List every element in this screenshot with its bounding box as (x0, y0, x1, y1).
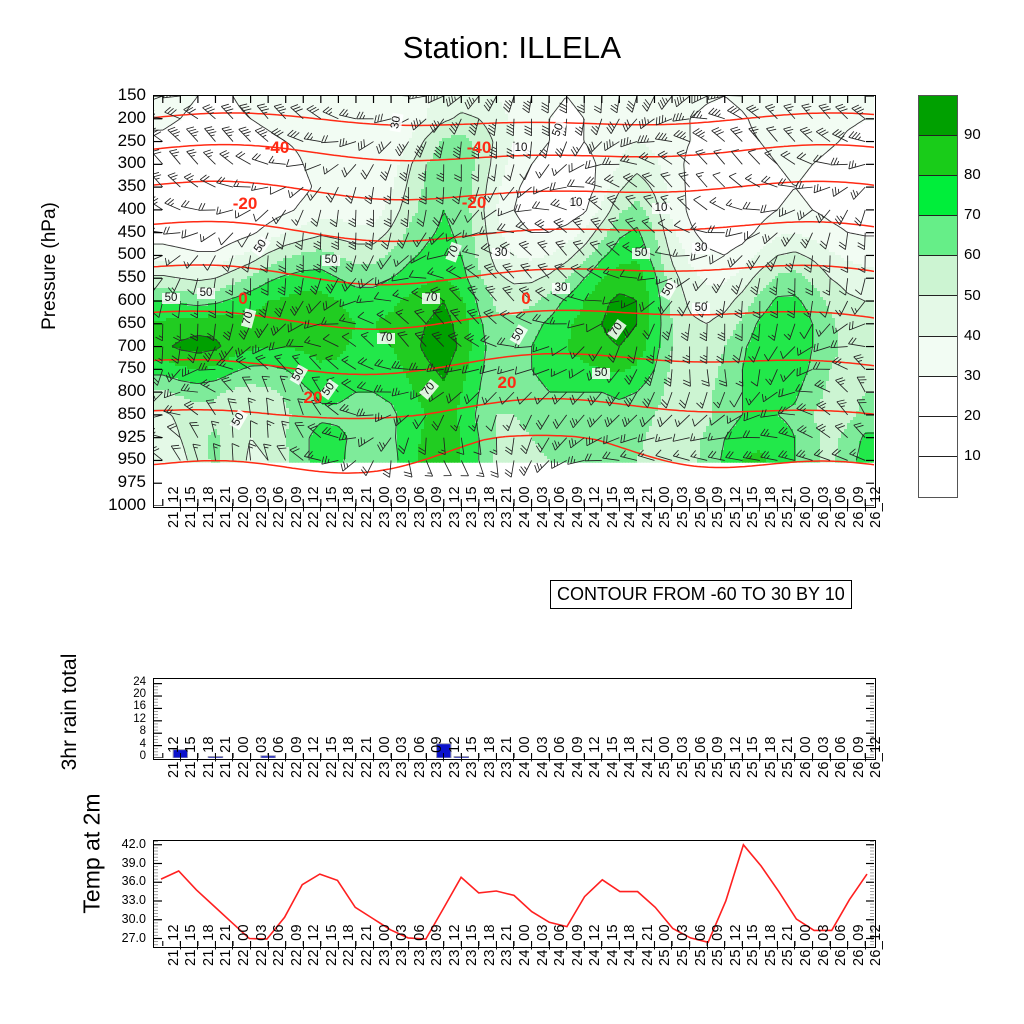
time-tick-label: 25_06 (694, 952, 708, 966)
time-tick-label: 25_03 (676, 514, 690, 528)
time-tick-label: 24_00 (518, 764, 532, 778)
time-tick-label: 25_15 (746, 952, 760, 966)
time-tick-label: 25_15 (746, 764, 760, 778)
humidity-colorbar[interactable] (918, 95, 958, 498)
pressure-axis-title: Pressure (hPa) (39, 156, 61, 376)
time-tick-label: 25_03 (676, 952, 690, 966)
rain-tick-label: 4 (100, 739, 146, 750)
pressure-tick-label: 500 (100, 245, 146, 262)
pressure-tick-label: 1000 (100, 496, 146, 513)
colorbar-tick-label: 40 (964, 328, 981, 343)
time-tick-label: 22_15 (325, 514, 339, 528)
time-tick-label: 26_12 (869, 764, 883, 778)
pressure-tick-label: 950 (100, 450, 146, 467)
temperature-axis-title: Temp at 2m (79, 744, 106, 964)
time-tick-label: 23_03 (395, 952, 409, 966)
pressure-tick-label: 550 (100, 268, 146, 285)
pressure-axis-labels: 1502002503003504004505005506006507007508… (96, 95, 146, 508)
time-tick-label: 22_03 (255, 514, 269, 528)
time-tick-label: 25_18 (764, 514, 778, 528)
time-tick-label: 22_09 (290, 514, 304, 528)
time-tick-label: 23_12 (448, 764, 462, 778)
time-tick-label: 23_06 (413, 952, 427, 966)
cross-section-plot: 5050307010105030707050705050507030505050… (154, 96, 874, 506)
time-tick-label: 24_15 (606, 514, 620, 528)
time-tick-label: 25_12 (729, 952, 743, 966)
time-height-cross-section-panel[interactable]: 5050307010105030707050705050507030505050… (153, 95, 876, 508)
time-tick-label: 26_03 (817, 952, 831, 966)
contour-caption: CONTOUR FROM -60 TO 30 BY 10 (550, 580, 852, 609)
colorbar-band[interactable] (919, 256, 957, 296)
rain-tick-label: 8 (100, 726, 146, 737)
time-tick-label: 24_15 (606, 952, 620, 966)
pressure-tick-label: 700 (100, 337, 146, 354)
time-tick-label: 26_06 (834, 764, 848, 778)
time-tick-label: 21_21 (219, 952, 233, 966)
time-tick-label: 23_03 (395, 764, 409, 778)
time-tick-label: 24_03 (536, 952, 550, 966)
time-tick-label: 24_12 (588, 764, 602, 778)
time-tick-label: 24_09 (571, 952, 585, 966)
time-tick-label: 22_21 (360, 514, 374, 528)
time-axis-labels-main: 21_1221_1521_1821_2122_0022_0322_0622_09… (153, 514, 876, 576)
time-tick-label: 25_18 (764, 952, 778, 966)
time-tick-label: 24_06 (553, 764, 567, 778)
time-tick-label: 25_06 (694, 514, 708, 528)
pressure-tick-label: 600 (100, 291, 146, 308)
time-tick-label: 22_06 (272, 514, 286, 528)
time-tick-label: 21_12 (167, 514, 181, 528)
pressure-tick-label: 975 (100, 473, 146, 490)
time-tick-label: 22_15 (325, 764, 339, 778)
time-tick-label: 23_03 (395, 514, 409, 528)
colorbar-band[interactable] (919, 457, 957, 497)
time-tick-label: 25_12 (729, 514, 743, 528)
time-tick-label: 26_12 (869, 514, 883, 528)
time-tick-label: 23_00 (378, 952, 392, 966)
time-tick-label: 26_06 (834, 514, 848, 528)
time-tick-label: 25_18 (764, 764, 778, 778)
pressure-tick-label: 450 (100, 223, 146, 240)
colorbar-band[interactable] (919, 296, 957, 336)
time-tick-label: 22_12 (307, 764, 321, 778)
time-tick-label: 23_18 (483, 952, 497, 966)
time-tick-label: 21_18 (202, 764, 216, 778)
time-tick-label: 21_21 (219, 764, 233, 778)
time-tick-label: 24_06 (553, 514, 567, 528)
time-tick-label: 26_09 (852, 764, 866, 778)
time-tick-label: 25_09 (711, 514, 725, 528)
time-tick-label: 23_06 (413, 764, 427, 778)
time-tick-label: 22_18 (342, 952, 356, 966)
time-tick-label: 24_09 (571, 514, 585, 528)
time-tick-label: 24_21 (641, 514, 655, 528)
time-tick-label: 24_00 (518, 514, 532, 528)
colorbar-tick-label: 10 (964, 448, 981, 463)
time-tick-label: 23_00 (378, 514, 392, 528)
pressure-tick-label: 750 (100, 359, 146, 376)
time-tick-label: 25_09 (711, 764, 725, 778)
time-tick-label: 22_00 (237, 764, 251, 778)
time-tick-label: 22_12 (307, 952, 321, 966)
colorbar-band[interactable] (919, 136, 957, 176)
time-tick-label: 26_09 (852, 514, 866, 528)
rain-tick-label: 12 (100, 714, 146, 725)
colorbar-tick-label: 20 (964, 408, 981, 423)
time-tick-label: 21_15 (184, 952, 198, 966)
time-tick-label: 22_00 (237, 952, 251, 966)
time-tick-label: 24_21 (641, 764, 655, 778)
weather-sounding-figure: Station: ILLELA 505030701010503070705070… (0, 0, 1024, 1024)
colorbar-band[interactable] (919, 377, 957, 417)
time-tick-label: 26_06 (834, 952, 848, 966)
time-axis-labels-rain: 21_1221_1521_1821_2122_0022_0322_0622_09… (153, 764, 876, 822)
rain-tick-label: 20 (100, 689, 146, 700)
time-tick-label: 23_18 (483, 514, 497, 528)
colorbar-tick-label: 50 (964, 288, 981, 303)
time-tick-label: 26_03 (817, 514, 831, 528)
time-tick-label: 25_03 (676, 764, 690, 778)
time-tick-label: 25_09 (711, 952, 725, 966)
time-tick-label: 26_03 (817, 764, 831, 778)
time-tick-label: 26_00 (799, 952, 813, 966)
time-tick-label: 21_18 (202, 514, 216, 528)
time-tick-label: 26_00 (799, 514, 813, 528)
pressure-tick-label: 200 (100, 109, 146, 126)
time-tick-label: 23_00 (378, 764, 392, 778)
pressure-tick-label: 650 (100, 314, 146, 331)
time-tick-label: 23_12 (448, 952, 462, 966)
time-tick-label: 21_15 (184, 514, 198, 528)
time-axis-labels-temp: 21_1221_1521_1821_2122_0022_0322_0622_09… (153, 952, 876, 1010)
time-tick-label: 24_15 (606, 764, 620, 778)
pressure-tick-label: 250 (100, 132, 146, 149)
time-tick-label: 25_06 (694, 764, 708, 778)
pressure-tick-label: 150 (100, 86, 146, 103)
time-tick-label: 26_00 (799, 764, 813, 778)
time-tick-label: 22_00 (237, 514, 251, 528)
time-tick-label: 22_18 (342, 764, 356, 778)
time-tick-label: 23_21 (500, 952, 514, 966)
time-tick-label: 23_09 (430, 764, 444, 778)
time-tick-label: 22_12 (307, 514, 321, 528)
time-tick-label: 21_15 (184, 764, 198, 778)
page-title: Station: ILLELA (0, 30, 1024, 66)
pressure-tick-label: 925 (100, 428, 146, 445)
time-tick-label: 23_09 (430, 514, 444, 528)
colorbar-tick-label: 60 (964, 247, 981, 262)
pressure-tick-label: 300 (100, 154, 146, 171)
time-tick-label: 21_12 (167, 764, 181, 778)
rain-axis-labels: 04812162024 (100, 678, 146, 760)
time-tick-label: 23_21 (500, 514, 514, 528)
time-tick-label: 22_09 (290, 764, 304, 778)
colorbar-band[interactable] (919, 216, 957, 256)
time-tick-label: 22_15 (325, 952, 339, 966)
pressure-tick-label: 800 (100, 382, 146, 399)
colorbar-tick-label: 30 (964, 368, 981, 383)
time-tick-label: 23_09 (430, 952, 444, 966)
time-tick-label: 24_18 (623, 952, 637, 966)
time-tick-label: 21_21 (219, 514, 233, 528)
colorbar-band[interactable] (919, 337, 957, 377)
time-tick-label: 22_18 (342, 514, 356, 528)
time-tick-label: 22_21 (360, 952, 374, 966)
time-tick-label: 24_03 (536, 514, 550, 528)
colorbar-band[interactable] (919, 417, 957, 457)
time-tick-label: 24_03 (536, 764, 550, 778)
time-tick-label: 22_03 (255, 952, 269, 966)
colorbar-tick-label: 80 (964, 167, 981, 182)
time-tick-label: 26_09 (852, 952, 866, 966)
pressure-tick-label: 400 (100, 200, 146, 217)
time-tick-label: 23_21 (500, 764, 514, 778)
time-tick-label: 24_06 (553, 952, 567, 966)
time-tick-label: 24_09 (571, 764, 585, 778)
rain-tick-label: 24 (100, 677, 146, 688)
time-tick-label: 25_00 (658, 764, 672, 778)
time-tick-label: 23_18 (483, 764, 497, 778)
pressure-tick-label: 850 (100, 405, 146, 422)
colorbar-tick-label: 90 (964, 127, 981, 142)
time-tick-label: 22_03 (255, 764, 269, 778)
colorbar-band[interactable] (919, 176, 957, 216)
time-tick-label: 21_18 (202, 952, 216, 966)
time-tick-label: 23_06 (413, 514, 427, 528)
time-tick-label: 22_06 (272, 764, 286, 778)
time-tick-label: 24_12 (588, 514, 602, 528)
time-tick-label: 25_21 (781, 952, 795, 966)
time-tick-label: 25_15 (746, 514, 760, 528)
time-tick-label: 24_12 (588, 952, 602, 966)
time-tick-label: 25_21 (781, 514, 795, 528)
time-tick-label: 25_00 (658, 952, 672, 966)
time-tick-label: 23_12 (448, 514, 462, 528)
colorbar-band[interactable] (919, 96, 957, 136)
time-tick-label: 24_00 (518, 952, 532, 966)
rain-tick-label: 0 (100, 751, 146, 762)
time-tick-label: 22_21 (360, 764, 374, 778)
time-tick-label: 21_12 (167, 952, 181, 966)
time-tick-label: 22_06 (272, 952, 286, 966)
time-tick-label: 26_12 (869, 952, 883, 966)
time-tick-label: 22_09 (290, 952, 304, 966)
colorbar-tick-label: 70 (964, 207, 981, 222)
time-tick-label: 24_21 (641, 952, 655, 966)
time-tick-label: 25_21 (781, 764, 795, 778)
time-tick-label: 23_15 (465, 514, 479, 528)
rain-tick-label: 16 (100, 701, 146, 712)
time-tick-label: 24_18 (623, 764, 637, 778)
pressure-tick-label: 350 (100, 177, 146, 194)
time-tick-label: 23_15 (465, 952, 479, 966)
time-tick-label: 24_18 (623, 514, 637, 528)
time-tick-label: 23_15 (465, 764, 479, 778)
time-tick-label: 25_12 (729, 764, 743, 778)
time-tick-label: 25_00 (658, 514, 672, 528)
